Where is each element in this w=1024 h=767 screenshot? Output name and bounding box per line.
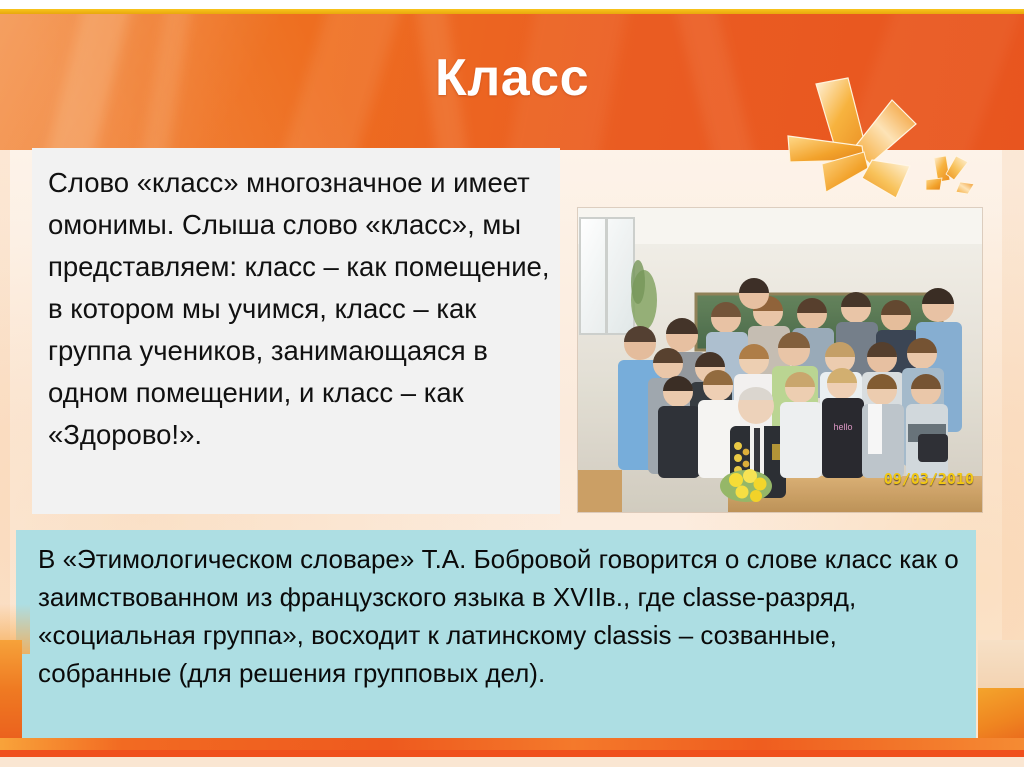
- slide-title: Класс: [0, 52, 1024, 104]
- slide-canvas: Класс: [0, 0, 1024, 767]
- class-photo: hello: [578, 208, 982, 512]
- class-photo-frame: hello 09/03/2010: [578, 208, 982, 512]
- body-text-panel: Слово «класс» многозначное и имеет омони…: [32, 148, 560, 514]
- bottom-orange-rule: [0, 750, 1024, 757]
- right-cream-accent: [978, 640, 1024, 690]
- left-orange-accent: [0, 640, 22, 750]
- top-white-strip: [0, 0, 1024, 9]
- bottom-orange-band: [0, 738, 1024, 750]
- photo-date-stamp: 09/03/2010: [884, 470, 974, 488]
- bottom-cream-strip: [0, 757, 1024, 767]
- body-text: Слово «класс» многозначное и имеет омони…: [32, 148, 560, 456]
- etymology-quote-box: В «Этимологическом словаре» Т.А. Боброво…: [16, 530, 976, 738]
- etymology-quote-text: В «Этимологическом словаре» Т.А. Боброво…: [16, 530, 976, 692]
